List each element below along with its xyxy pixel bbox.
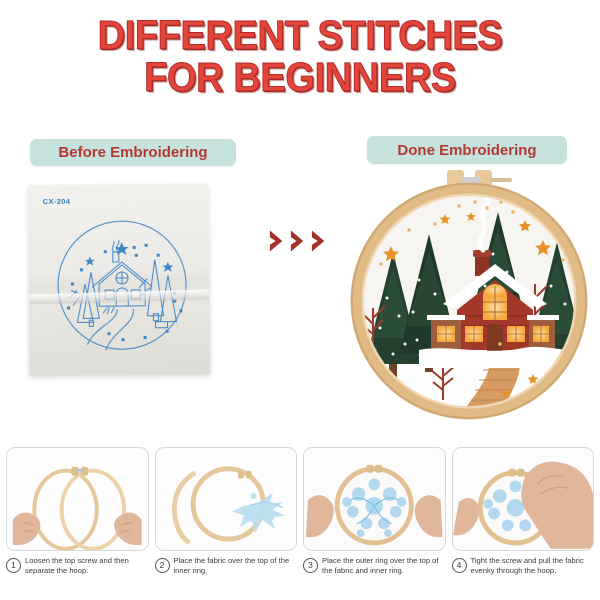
step-text-4: Tight the screw and pull the fabric even… bbox=[471, 556, 595, 575]
label-done-embroidering: Done Embroidering bbox=[367, 136, 567, 164]
label-before-text: Before Embroidering bbox=[58, 144, 207, 161]
step-card-4[interactable] bbox=[452, 447, 595, 551]
embroidery-hoop-artwork bbox=[347, 168, 592, 423]
page-title: DIFFERENT STITCHES FOR BEGINNERS bbox=[21, 14, 579, 98]
step-number-4: 4 bbox=[452, 558, 467, 573]
step-number-2: 2 bbox=[155, 558, 170, 573]
pattern-code-label: CX-204 bbox=[43, 197, 71, 206]
step-card-1[interactable] bbox=[6, 447, 149, 551]
chevron-right-icon bbox=[268, 228, 287, 254]
step-text-2: Place the fabric over the top of the inn… bbox=[174, 556, 298, 575]
chevron-right-icon bbox=[289, 228, 308, 254]
step-text-3: Place the outer ring over the top of the… bbox=[322, 556, 446, 575]
step-number-1: 1 bbox=[6, 558, 21, 573]
label-done-text: Done Embroidering bbox=[397, 142, 536, 159]
step-number-3: 3 bbox=[303, 558, 318, 573]
step-card-3[interactable] bbox=[303, 447, 446, 551]
printed-fabric-sheet: CX-204 bbox=[29, 184, 211, 376]
title-line-1: DIFFERENT STITCHES bbox=[98, 12, 503, 58]
step-caption-1: 1 Loosen the top screw and then separate… bbox=[6, 556, 149, 596]
done-photo bbox=[347, 168, 592, 423]
before-photo: CX-204 bbox=[24, 181, 216, 377]
blue-pattern-artwork bbox=[47, 210, 198, 361]
step-text-1: Loosen the top screw and then separate t… bbox=[25, 556, 149, 575]
chevron-right-icon bbox=[310, 228, 329, 254]
step-caption-4: 4 Tight the screw and pull the fabric ev… bbox=[452, 556, 595, 596]
step-2-photo bbox=[156, 448, 297, 550]
title-line-2: FOR BEGINNERS bbox=[21, 56, 579, 98]
step-caption-3: 3 Place the outer ring over the top of t… bbox=[303, 556, 446, 596]
progress-arrow bbox=[268, 228, 332, 254]
step-1-photo bbox=[7, 448, 148, 550]
step-photo-row bbox=[0, 447, 600, 555]
step-3-photo bbox=[304, 448, 445, 550]
step-card-2[interactable] bbox=[155, 447, 298, 551]
infographic-page: DIFFERENT STITCHES FOR BEGINNERS Before … bbox=[0, 0, 600, 600]
step-caption-row: 1 Loosen the top screw and then separate… bbox=[0, 556, 600, 596]
step-4-photo bbox=[453, 448, 594, 550]
label-before-embroidering: Before Embroidering bbox=[30, 139, 236, 166]
step-caption-2: 2 Place the fabric over the top of the i… bbox=[155, 556, 298, 596]
